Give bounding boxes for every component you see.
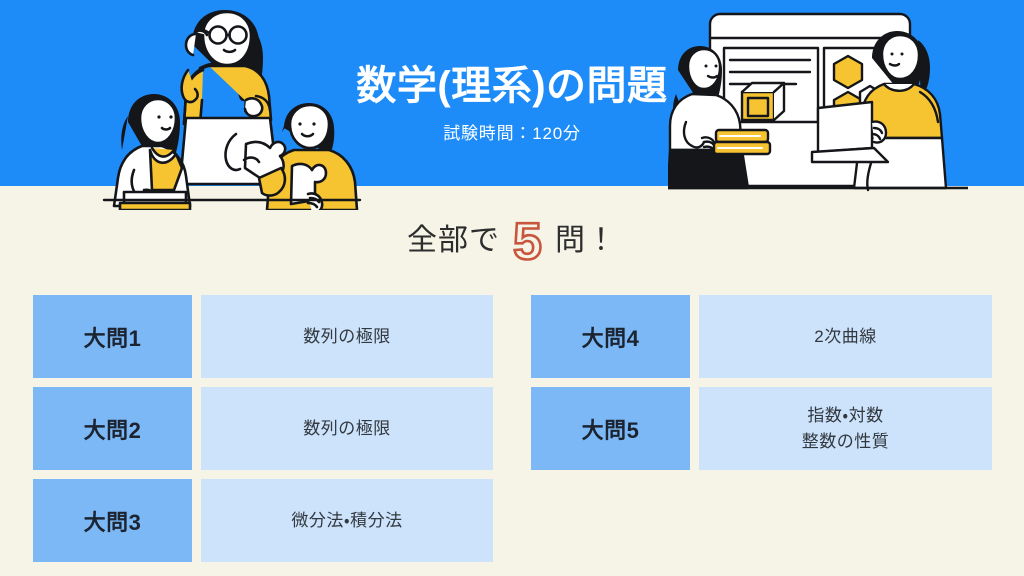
problem-label-cell: 大問2 — [33, 387, 192, 470]
table-row: 大問1 数列の極限 — [33, 295, 493, 378]
problem-table-right: 大問4 2次曲線 大問5 指数・対数 整数の性質 — [531, 295, 992, 470]
table-row: 大問5 指数・対数 整数の性質 — [531, 387, 992, 470]
problem-topic-cell: 微分法・積分法 — [201, 479, 493, 562]
problem-table-left: 大問1 数列の極限 大問2 数列の極限 大問3 微分法・積分法 — [33, 295, 493, 562]
problem-topic-cell: 数列の極限 — [201, 387, 493, 470]
count-number: 5 — [513, 216, 542, 268]
table-row: 大問3 微分法・積分法 — [33, 479, 493, 562]
table-row: 大問4 2次曲線 — [531, 295, 992, 378]
total-question-count: 全部で 5 問！ — [0, 206, 1024, 276]
slide-root: 数学(理系)の問題 試験時間：120分 全部で 5 問！ 大問1 数列の極限 大… — [0, 0, 1024, 576]
problem-topic-cell: 指数・対数 整数の性質 — [699, 387, 992, 470]
problem-label-cell: 大問1 — [33, 295, 192, 378]
table-row: 大問2 数列の極限 — [33, 387, 493, 470]
problem-topic-cell: 数列の極限 — [201, 295, 493, 378]
count-suffix-label: 問！ — [555, 226, 617, 256]
problem-label-cell: 大問3 — [33, 479, 192, 562]
problem-label-cell: 大問5 — [531, 387, 690, 470]
two-women-at-whiteboard-illustration — [668, 0, 968, 200]
count-prefix-label: 全部で — [407, 226, 500, 256]
problem-label-cell: 大問4 — [531, 295, 690, 378]
problem-topic-cell: 2次曲線 — [699, 295, 992, 378]
students-studying-illustration — [96, 0, 366, 210]
